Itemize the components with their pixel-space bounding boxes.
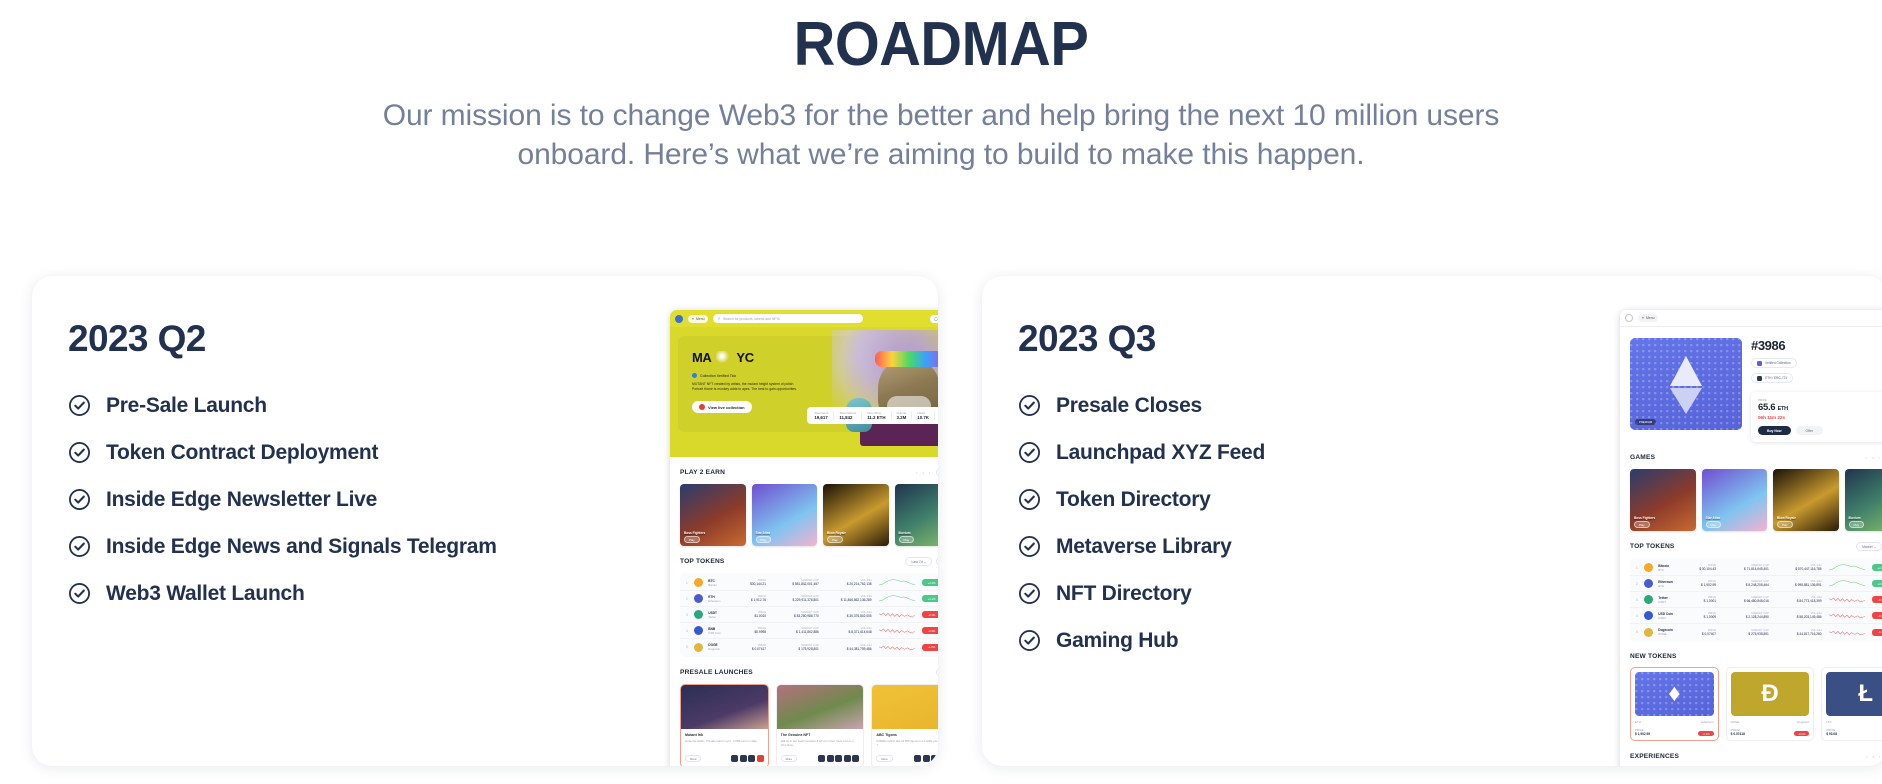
milestone-list: Pre-Sale LaunchToken Contract Deployment…	[68, 382, 938, 617]
new-token-name: Ethereum	[1701, 720, 1714, 724]
presale-card-name: The Genuine NFT	[781, 733, 860, 737]
mock-section-presale: PRESALE LAUNCHESView allMutant InkInvite…	[670, 657, 938, 766]
milestone-label: Metaverse Library	[1056, 535, 1232, 559]
social-icon[interactable]	[748, 755, 755, 762]
new-token-symbol: LTC	[1826, 720, 1831, 724]
cell-value: $0.9998	[738, 630, 766, 634]
social-icon-row	[914, 755, 938, 762]
mock-section-controls: ‹ • ›View all	[1866, 752, 1882, 761]
roadmap-card-list: 2023 Q2Pre-Sale LaunchToken Contract Dep…	[32, 276, 1882, 766]
presale-card[interactable]: ABC Tigons5 PERD collect last off 505 ti…	[871, 684, 938, 766]
new-token-symbol: DOGE	[1731, 720, 1740, 724]
milestone-label: Inside Edge News and Signals Telegram	[106, 535, 497, 559]
marketcap-cell: MARKET CAP$ 175,928,801	[771, 644, 819, 651]
social-icon[interactable]	[731, 755, 738, 762]
new-token-price-wrap: PRICE$ 93.08	[1826, 728, 1837, 736]
roadmap-card-title: 2023 Q3	[1018, 318, 1882, 360]
price-cell: PRICE$ 0.07417	[738, 644, 766, 651]
milestone-item: NFT Directory	[1018, 570, 1882, 617]
milestone-list: Presale ClosesLaunchpad XYZ FeedToken Di…	[1018, 382, 1882, 664]
social-icon[interactable]	[835, 755, 842, 762]
presale-card-row: Mutant InkInvite the artists. Presale lo…	[680, 684, 938, 766]
new-token-row: ETHEthereum	[1635, 720, 1714, 724]
new-token-logo-icon: Ł	[1826, 672, 1882, 716]
cell-value: $ 44,381,759,486	[824, 647, 872, 651]
milestone-item: Gaming Hub	[1018, 617, 1882, 664]
page-title: ROADMAP	[66, 14, 1816, 76]
roadmap-card-content: 2023 Q3Presale ClosesLaunchpad XYZ FeedT…	[982, 276, 1882, 664]
page-subtitle: Our mission is to change Web3 for the be…	[351, 96, 1531, 174]
social-icon[interactable]	[827, 755, 834, 762]
new-token-price-row: PRICE$ 93.08-1.4%	[1826, 728, 1882, 736]
presale-card-description: Invite the artists. Presale load in sync…	[685, 739, 764, 751]
new-token-row: LTCLitecoin	[1826, 720, 1882, 724]
roadmap-card-2023-q3: 2023 Q3Presale ClosesLaunchpad XYZ FeedT…	[982, 276, 1882, 766]
social-icon[interactable]	[818, 755, 825, 762]
social-icon[interactable]	[844, 755, 851, 762]
milestone-item: Launchpad XYZ Feed	[1018, 429, 1882, 476]
check-circle-icon	[1018, 488, 1041, 511]
price-value: $ 1,902.99	[1635, 732, 1650, 736]
milestone-item: Presale Closes	[1018, 382, 1882, 429]
new-token-price-row: PRICE$ 0.07418-0.9%	[1731, 728, 1810, 736]
coin-icon	[694, 643, 703, 652]
check-circle-icon	[1018, 629, 1041, 652]
milestone-label: Web3 Wallet Launch	[106, 582, 305, 606]
carousel-arrows-icon[interactable]: ‹ • ›	[1866, 754, 1882, 759]
check-circle-icon	[1018, 582, 1041, 605]
price-cell: PRICE$0.9998	[738, 627, 766, 634]
new-token-price-wrap: PRICE$ 0.07418	[1731, 728, 1745, 736]
change-badge: -1.1%	[1698, 731, 1713, 736]
presale-card-name: ABC Tigons	[876, 733, 938, 737]
social-icon[interactable]	[740, 755, 747, 762]
row-index: 4	[686, 629, 689, 633]
presale-card-body: ABC Tigons5 PERD collect last off 505 ti…	[872, 729, 938, 766]
token-name-cell: BNBUSD Coin	[708, 627, 733, 635]
new-token-card[interactable]: ŁLTCLitecoinPRICE$ 93.08-1.4%	[1821, 667, 1882, 741]
presale-card-footer: More	[876, 755, 938, 762]
milestone-item: Metaverse Library	[1018, 523, 1882, 570]
social-icon-row	[818, 755, 859, 762]
check-circle-icon	[1018, 535, 1041, 558]
sparkline-chart	[877, 626, 917, 635]
presale-card-description: 5 PERD collect last off 505 tigons is a …	[876, 739, 938, 751]
roadmap-card-title: 2023 Q2	[68, 318, 938, 360]
mock-section-controls: View all	[936, 668, 938, 677]
social-icon-row	[731, 755, 764, 762]
table-row[interactable]: 5DOGEDogecoinPRICE$ 0.07417MARKET CAP$ 1…	[680, 639, 938, 655]
cell-value: $ 0.07417	[738, 647, 766, 651]
view-all-button[interactable]: View all	[936, 668, 938, 677]
new-token-logo-icon: Ð	[1731, 672, 1810, 716]
mock-section-header: PRESALE LAUNCHESView all	[680, 668, 938, 677]
new-token-row: DOGEDogecoin	[1731, 720, 1810, 724]
social-icon[interactable]	[931, 755, 938, 762]
check-circle-icon	[68, 582, 91, 605]
change-badge: -0.4%	[922, 627, 938, 634]
milestone-label: Gaming Hub	[1056, 629, 1178, 653]
cell-value: $ 1,411,862,886	[771, 630, 819, 634]
presale-card-name: Mutant Ink	[685, 733, 764, 737]
presale-more-button[interactable]: More	[876, 755, 892, 762]
volume-cell: VOL 24H$ 44,381,759,486	[824, 644, 872, 651]
presale-more-button[interactable]: More	[781, 755, 797, 762]
social-icon[interactable]	[757, 755, 764, 762]
check-circle-icon	[1018, 394, 1041, 417]
milestone-item: Token Directory	[1018, 476, 1882, 523]
price-value: $ 93.08	[1826, 732, 1837, 736]
new-token-card[interactable]: ÐDOGEDogecoinPRICE$ 0.07418-0.9%	[1726, 667, 1815, 741]
roadmap-card-content: 2023 Q2Pre-Sale LaunchToken Contract Dep…	[32, 276, 938, 617]
check-circle-icon	[68, 488, 91, 511]
mock-section-title: EXPERIENCES	[1630, 753, 1679, 760]
presale-card[interactable]: Mutant InkInvite the artists. Presale lo…	[680, 684, 769, 766]
new-token-logo-icon: ♦	[1635, 672, 1714, 716]
coin-icon	[694, 626, 703, 635]
presale-card-image	[872, 685, 938, 729]
milestone-label: NFT Directory	[1056, 582, 1192, 606]
milestone-item: Web3 Wallet Launch	[68, 570, 938, 617]
milestone-label: Presale Closes	[1056, 394, 1202, 418]
presale-card[interactable]: The Genuine NFTWill be in two itself Com…	[776, 684, 865, 766]
milestone-label: Pre-Sale Launch	[106, 394, 267, 418]
social-icon[interactable]	[852, 755, 859, 762]
presale-more-button[interactable]: More	[685, 755, 701, 762]
table-row[interactable]: 4BNBUSD CoinPRICE$0.9998MARKET CAP$ 1,41…	[680, 623, 938, 639]
presale-card-image	[777, 685, 864, 729]
roadmap-page: ROADMAP Our mission is to change Web3 fo…	[0, 0, 1882, 784]
price-value: $ 0.07418	[1731, 732, 1745, 736]
milestone-item: Inside Edge News and Signals Telegram	[68, 523, 938, 570]
milestone-label: Token Contract Deployment	[106, 441, 378, 465]
row-index: 5	[686, 645, 689, 649]
social-icon[interactable]	[914, 755, 921, 762]
new-token-price-wrap: PRICE$ 1,902.99	[1635, 728, 1650, 736]
new-token-symbol: ETH	[1635, 720, 1641, 724]
milestone-item: Inside Edge Newsletter Live	[68, 476, 938, 523]
check-circle-icon	[68, 535, 91, 558]
milestone-label: Inside Edge Newsletter Live	[106, 488, 377, 512]
check-circle-icon	[68, 441, 91, 464]
presale-card-body: The Genuine NFTWill be in two itself Com…	[777, 729, 864, 766]
milestone-item: Token Contract Deployment	[68, 429, 938, 476]
presale-card-footer: More	[781, 755, 860, 762]
check-circle-icon	[1018, 441, 1041, 464]
roadmap-card-2023-q2: 2023 Q2Pre-Sale LaunchToken Contract Dep…	[32, 276, 938, 766]
milestone-label: Launchpad XYZ Feed	[1056, 441, 1265, 465]
check-circle-icon	[68, 394, 91, 417]
sparkline-chart	[877, 643, 917, 652]
presale-card-description: Will be in two itself Compare 6 ETH on h…	[781, 739, 860, 751]
volume-cell: VOL 24H$ 8,371,614,648	[824, 627, 872, 634]
presale-card-body: Mutant InkInvite the artists. Presale lo…	[681, 729, 768, 766]
page-header: ROADMAP Our mission is to change Web3 fo…	[0, 0, 1882, 174]
change-badge: -0.9%	[1794, 731, 1809, 736]
cell-value: $ 175,928,801	[771, 647, 819, 651]
milestone-label: Token Directory	[1056, 488, 1211, 512]
milestone-item: Pre-Sale Launch	[68, 382, 938, 429]
mock-section-header: EXPERIENCES‹ • ›View all	[1630, 752, 1882, 761]
mock-section-tiles: EXPERIENCES‹ • ›View all	[1620, 741, 1882, 761]
mock-section-title: PRESALE LAUNCHES	[680, 669, 753, 676]
social-icon[interactable]	[923, 755, 930, 762]
cell-value: $ 8,371,614,648	[824, 630, 872, 634]
new-token-price-row: PRICE$ 1,902.99-1.1%	[1635, 728, 1714, 736]
new-token-name: Dogecoin	[1797, 720, 1809, 724]
new-token-card-row: ♦ETHEthereumPRICE$ 1,902.99-1.1%ÐDOGEDog…	[1630, 667, 1882, 741]
new-token-card[interactable]: ♦ETHEthereumPRICE$ 1,902.99-1.1%	[1630, 667, 1719, 741]
presale-card-footer: More	[685, 755, 764, 762]
token-name-cell: DOGEDogecoin	[708, 643, 733, 651]
token-fullname: Dogecoin	[708, 647, 733, 651]
token-fullname: USD Coin	[708, 631, 733, 635]
change-badge: -1.2%	[922, 644, 938, 651]
presale-card-image	[681, 685, 768, 729]
marketcap-cell: MARKET CAP$ 1,411,862,886	[771, 627, 819, 634]
